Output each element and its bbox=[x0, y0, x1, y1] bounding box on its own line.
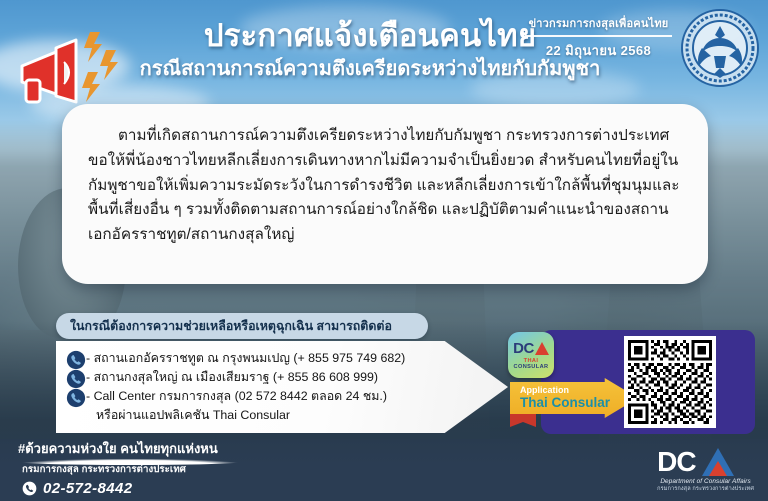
contact-item-text: - สถานเอกอัครราชทูต ณ กรุงพนมเปญ (+ 855 … bbox=[86, 349, 405, 367]
contact-row: - Call Center กรมการกงสุล (02 572 8442 ต… bbox=[66, 387, 508, 406]
footer-phone-number: 02-572-8442 bbox=[43, 480, 132, 497]
contact-subnote: หรือผ่านแอปพลิเคชัน Thai Consular bbox=[66, 406, 508, 424]
garuda-emblem-icon bbox=[680, 8, 760, 88]
contact-row: - สถานกงสุลใหญ่ ณ เมืองเสียมราฐ (+ 855 8… bbox=[66, 368, 508, 387]
dc-logo-english: Department of Consular Affairs bbox=[657, 478, 754, 485]
app-icon-line2: CONSULAR bbox=[514, 364, 549, 370]
contact-item-text: - Call Center กรมการกงสุล (02 572 8442 ต… bbox=[86, 387, 387, 405]
phone-icon bbox=[66, 350, 86, 370]
contact-panel: - สถานเอกอัครราชทูต ณ กรุงพนมเปญ (+ 855 … bbox=[56, 341, 508, 433]
phone-icon bbox=[22, 481, 37, 496]
thai-consular-app-icon: DC THAI CONSULAR bbox=[508, 332, 554, 378]
dc-logo-thai: กรมการกงสุล กระทรวงการต่างประเทศ bbox=[657, 485, 754, 493]
app-icon-mark: DC bbox=[513, 340, 549, 357]
contact-row: - สถานเอกอัครราชทูต ณ กรุงพนมเปญ (+ 855 … bbox=[66, 349, 508, 368]
divider bbox=[525, 35, 672, 37]
triangle-icon bbox=[535, 342, 549, 355]
announcement-bubble: ตามที่เกิดสถานการณ์ความตึงเครียดระหว่างไ… bbox=[62, 104, 708, 284]
poster-root: ประกาศแจ้งเตือนคนไทย กรณีสถานการณ์ความตึ… bbox=[0, 0, 768, 501]
footer-hashtag: #ด้วยความห่วงใย คนไทยทุกแห่งหน bbox=[18, 438, 218, 459]
triangle-icon bbox=[702, 448, 734, 476]
contact-item-text: - สถานกงสุลใหญ่ ณ เมืองเสียมราฐ (+ 855 8… bbox=[86, 368, 378, 386]
footer-department: กรมการกงสุล กระทรวงการต่างประเทศ bbox=[22, 462, 186, 477]
qr-code-icon[interactable] bbox=[624, 336, 716, 428]
contact-heading-bar: ในกรณีต้องการความช่วยเหลือหรือเหตุฉุกเฉิ… bbox=[56, 313, 428, 339]
dc-logo-mark: DC bbox=[657, 448, 754, 476]
phone-icon bbox=[66, 388, 86, 408]
phone-icon bbox=[66, 369, 86, 389]
news-source-label: ข่าวกรมการกงสุลเพื่อคนไทย bbox=[521, 14, 676, 32]
publish-date: 22 มิถุนายน 2568 bbox=[521, 40, 676, 61]
dc-logo: DC Department of Consular Affairs กรมการ… bbox=[657, 448, 754, 493]
contact-heading-text: ในกรณีต้องการความช่วยเหลือหรือเหตุฉุกเฉิ… bbox=[70, 317, 392, 336]
app-icon-dc-text: DC bbox=[513, 340, 534, 357]
footer-phone: 02-572-8442 bbox=[22, 480, 132, 497]
app-arrow-name: Thai Consular bbox=[520, 395, 638, 410]
header-meta: ข่าวกรมการกงสุลเพื่อคนไทย 22 มิถุนายน 25… bbox=[521, 14, 676, 61]
dc-logo-text: DC bbox=[657, 448, 695, 476]
megaphone-icon bbox=[6, 22, 126, 112]
announcement-text: ตามที่เกิดสถานการณ์ความตึงเครียดระหว่างไ… bbox=[88, 124, 682, 248]
